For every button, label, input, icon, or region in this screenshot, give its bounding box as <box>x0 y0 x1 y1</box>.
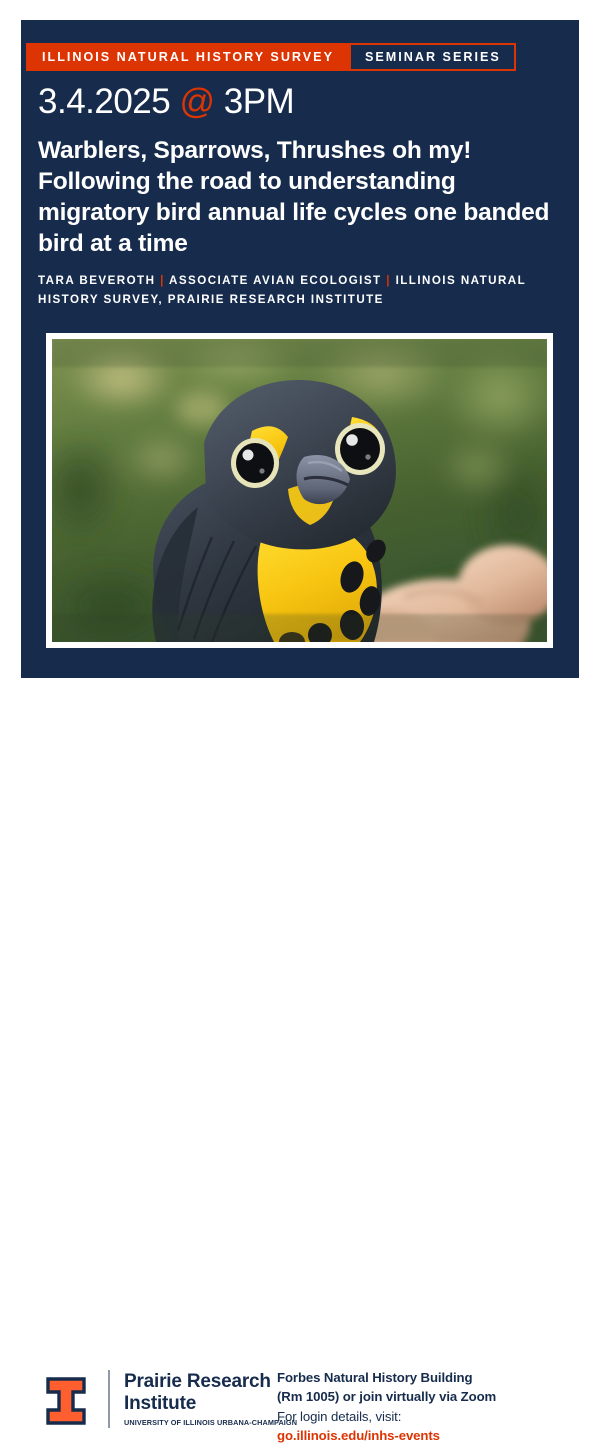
credit-separator-1: | <box>160 274 165 287</box>
speaker-credits: TARA BEVEROTH | ASSOCIATE AVIAN ECOLOGIS… <box>38 272 538 310</box>
photo-frame <box>46 333 553 648</box>
poster-footer: Prairie Research Institute UNIVERSITY OF… <box>0 678 600 777</box>
credit-separator-2: | <box>386 274 391 287</box>
page-title: Warblers, Sparrows, Thrushes oh my! Foll… <box>38 136 558 259</box>
speaker-name: TARA BEVEROTH <box>38 274 155 287</box>
login-note: For login details, visit: <box>277 1407 496 1426</box>
block-i-icon <box>44 1375 88 1427</box>
eyebrow-organization-label: ILLINOIS NATURAL HISTORY SURVEY <box>26 43 349 71</box>
at-symbol: @ <box>179 82 214 121</box>
bird-photo-illustration <box>52 339 547 642</box>
institute-subtitle: UNIVERSITY OF ILLINOIS URBANA-CHAMPAIGN <box>124 1418 274 1427</box>
event-time: 3PM <box>224 82 294 121</box>
institute-lockup: Prairie Research Institute UNIVERSITY OF… <box>124 1371 274 1427</box>
institute-name: Prairie Research Institute <box>124 1371 274 1415</box>
speaker-role: ASSOCIATE AVIAN ECOLOGIST <box>169 274 382 287</box>
logo-divider <box>108 1370 110 1428</box>
seminar-poster: ILLINOIS NATURAL HISTORY SURVEY SEMINAR … <box>0 0 600 777</box>
illinois-block-i-logo-icon <box>44 1375 88 1427</box>
events-link[interactable]: go.illinois.edu/inhs-events <box>277 1426 496 1446</box>
event-date: 3.4.2025 <box>38 82 170 121</box>
eyebrow-banner: ILLINOIS NATURAL HISTORY SURVEY SEMINAR … <box>26 43 516 71</box>
venue-room-and-zoom: (Rm 1005) or join virtually via Zoom <box>277 1387 496 1406</box>
venue-building: Forbes Natural History Building <box>277 1368 496 1387</box>
bird-photo <box>52 339 547 642</box>
eyebrow-series-label: SEMINAR SERIES <box>349 43 516 71</box>
venue-info: Forbes Natural History Building (Rm 1005… <box>277 1368 496 1446</box>
event-datetime: 3.4.2025 @ 3PM <box>38 82 294 122</box>
